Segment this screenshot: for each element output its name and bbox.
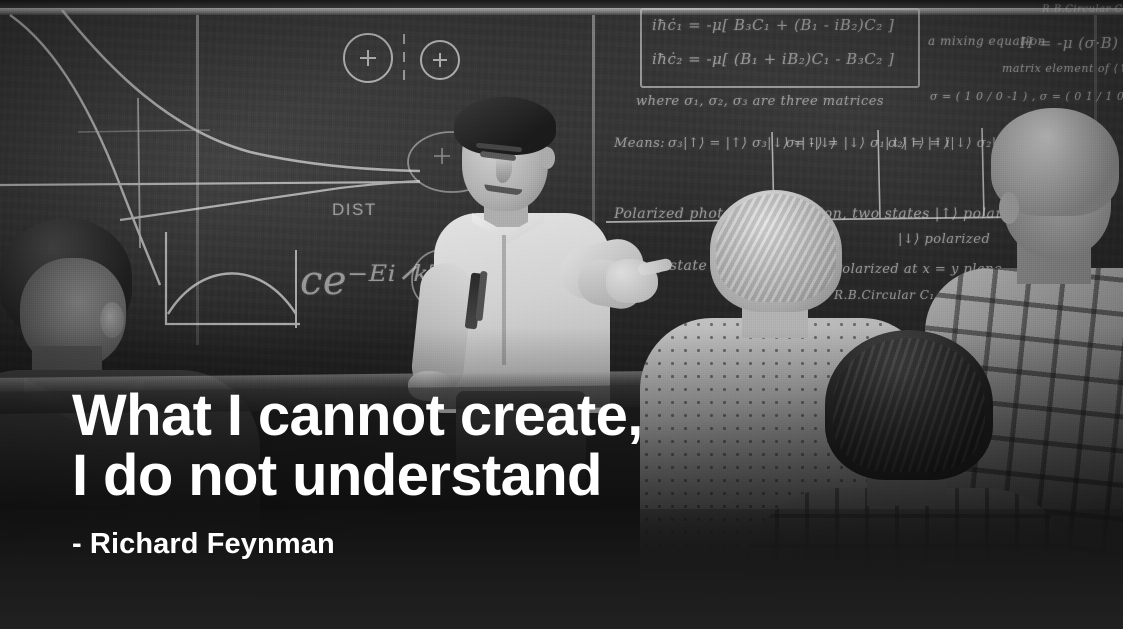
chalk-charge-circles [330,30,510,90]
student-dark-hair-hair [825,330,993,480]
chalk-where-line: where σ₁, σ₂, σ₃ are three matrices [636,94,884,109]
student-dark-hair [795,330,1095,629]
student-blonde-hair [710,190,842,312]
feynman-shirt-placket [502,235,506,365]
student-dark-hair-plaid-shirt [745,488,1075,629]
chalk-matrix-element-note: matrix element of ⟨↑|σ|↓⟩ [1002,62,1123,75]
chalk-corner-note: R.B.Circular C₁ = π , C₂ = i [1042,4,1123,15]
chalk-boxed-equation-2: iħċ₂ = -μ[ (B₁ + iB₂)C₁ - B₃C₂ ] [652,50,894,68]
student-plaid-ear [999,192,1019,224]
student-left-ear [100,302,124,338]
richard-feynman [410,95,650,405]
quote-poster: DIST ce⁻ᴱⁱᐟᵏᵀ iħċ₁ = -μ[ B₃C₁ + (B₁ - iB… [0,0,1123,629]
quote-caption: What I cannot create, I do not understan… [72,386,792,561]
quote-attribution: - Richard Feynman [72,527,792,561]
quote-line-1: What I cannot create, [72,386,792,446]
chalk-boxed-equation-1: iħċ₁ = -μ[ B₃C₁ + (B₁ - iB₂)C₂ ] [652,16,894,34]
blackboard-top-frame [0,0,1123,8]
chalk-label-dist: DIST [332,200,377,220]
quote-line-2: I do not understand [72,446,792,506]
chalk-hamiltonian: H = -μ (σ·B) [1020,34,1119,52]
feynman-ear [540,147,555,169]
chalk-matrix-note: σ = ( 1 0 / 0 -1 ) , σ = ( 0 1 / 1 0 ) [930,90,1123,103]
